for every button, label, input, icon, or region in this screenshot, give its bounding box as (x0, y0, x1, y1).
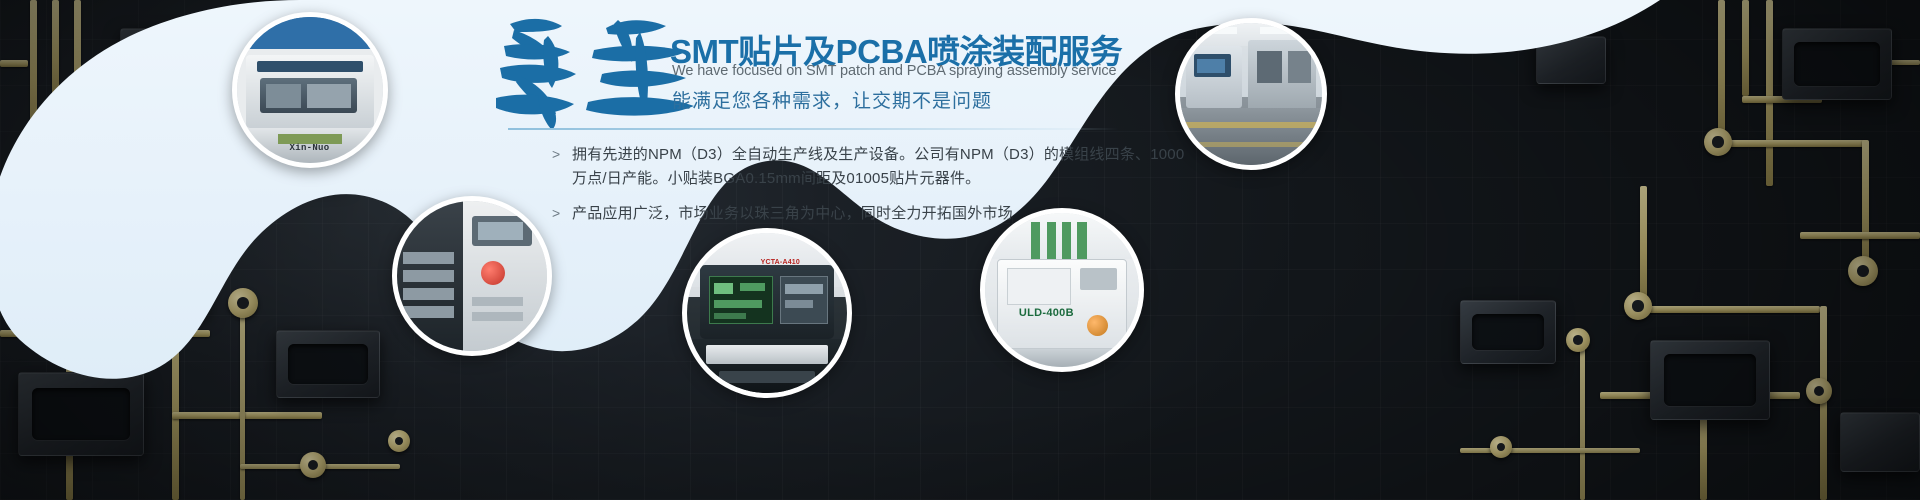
chevron-right-icon: > (552, 143, 572, 191)
photo-label-brand: Xin-Nuo (290, 143, 330, 153)
subtitle-english: We have focused on SMT patch and PCBA sp… (672, 63, 1117, 79)
photo-reflow-oven-image (237, 17, 383, 163)
photo-production-line-room (1175, 18, 1327, 170)
photo-uld-loader-machine: ULD-400B (980, 208, 1144, 372)
photo-uld-loader-image (985, 213, 1139, 367)
calligraphy-duonian (490, 6, 700, 131)
photo-production-line-image (1180, 23, 1322, 165)
list-item: > 拥有先进的NPM（D3）全自动生产线及生产设备。公司有NPM（D3）的模组线… (552, 143, 1192, 191)
photo-smt-mounter-image (397, 201, 547, 351)
photo-label-model: YCTA-A410 (761, 259, 800, 266)
photo-smt-mounter-machine (392, 196, 552, 356)
chevron-right-icon: > (552, 202, 572, 226)
photo-label-model: ULD-400B (1019, 307, 1074, 319)
photo-reflow-oven-machine: Xin-Nuo (232, 12, 388, 168)
list-item-text: 拥有先进的NPM（D3）全自动生产线及生产设备。公司有NPM（D3）的模组线四条… (572, 143, 1192, 191)
smt-service-banner: SMT贴片及PCBA喷涂装配服务 We have focused on SMT … (0, 0, 1920, 500)
photo-aoi-inspection-image (687, 233, 847, 393)
photo-aoi-inspection-machine: YCTA-A410 (682, 228, 852, 398)
tagline-chinese: 能满足您各种需求，让交期不是问题 (672, 86, 992, 113)
divider-line (508, 128, 1118, 130)
list-item-text: 产品应用广泛，市场业务以珠三角为中心，同时全力开拓国外市场 (572, 202, 1013, 226)
